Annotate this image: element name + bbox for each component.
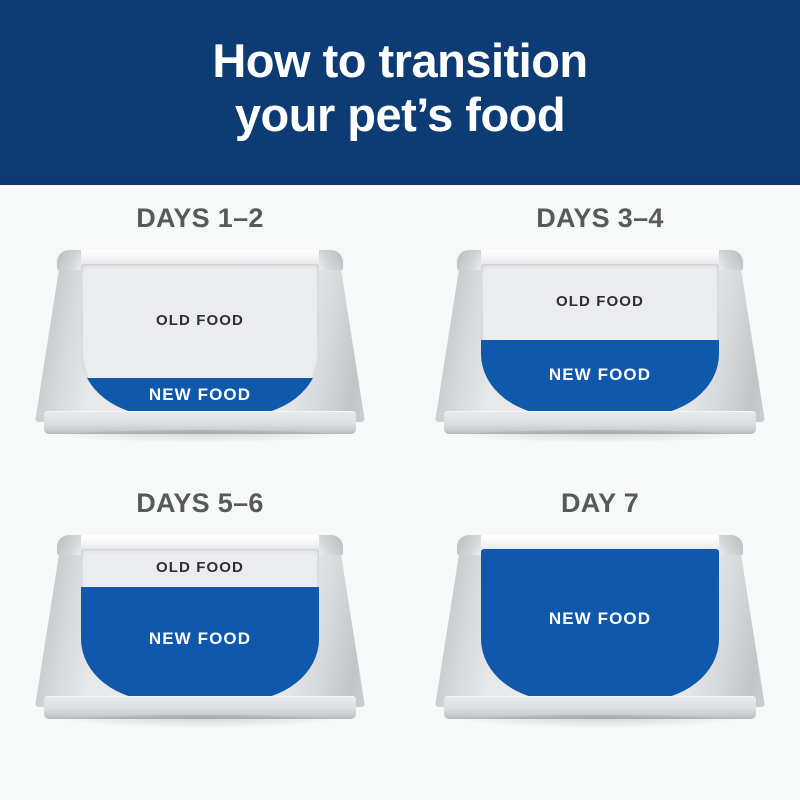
old-food-label-1: OLD FOOD xyxy=(81,312,319,329)
bowl-drop-shadow xyxy=(59,430,341,442)
old-food-label-3: OLD FOOD xyxy=(81,559,319,576)
day-label-2: DAYS 3–4 xyxy=(536,203,664,234)
food-well-4: NEW FOOD xyxy=(481,549,719,701)
pet-food-bowl-3: OLD FOOD NEW FOOD xyxy=(35,531,365,731)
page-title-line-1: How to transition xyxy=(212,34,587,88)
transition-step-2: DAYS 3–4 OLD FOOD NEW FOOD xyxy=(400,203,800,488)
old-food-label-2: OLD FOOD xyxy=(481,293,719,310)
bowl-drop-shadow xyxy=(59,715,341,727)
day-label-3: DAYS 5–6 xyxy=(136,488,264,519)
bowl-drop-shadow xyxy=(459,430,741,442)
food-well-2: OLD FOOD NEW FOOD xyxy=(481,264,719,416)
page-title: How to transition your pet’s food xyxy=(212,34,587,148)
day-label-4: DAY 7 xyxy=(561,488,639,519)
transition-step-1: DAYS 1–2 OLD FOOD NEW FOOD xyxy=(0,203,400,488)
new-food-label-3: NEW FOOD xyxy=(81,629,319,649)
food-well-1: OLD FOOD NEW FOOD xyxy=(81,264,319,416)
pet-food-bowl-1: OLD FOOD NEW FOOD xyxy=(35,246,365,446)
pet-food-bowl-2: OLD FOOD NEW FOOD xyxy=(435,246,765,446)
food-well-3: OLD FOOD NEW FOOD xyxy=(81,549,319,701)
transition-step-4: DAY 7 NEW FOOD xyxy=(400,488,800,773)
transition-step-3: DAYS 5–6 OLD FOOD NEW FOOD xyxy=(0,488,400,773)
header-banner: How to transition your pet’s food xyxy=(0,0,800,185)
new-food-label-1: NEW FOOD xyxy=(81,385,319,405)
pet-food-bowl-4: NEW FOOD xyxy=(435,531,765,731)
new-food-label-2: NEW FOOD xyxy=(481,365,719,385)
page-title-line-2: your pet’s food xyxy=(212,88,587,142)
bowl-drop-shadow xyxy=(459,715,741,727)
new-food-label-4: NEW FOOD xyxy=(481,609,719,629)
day-label-1: DAYS 1–2 xyxy=(136,203,264,234)
transition-steps-grid: DAYS 1–2 OLD FOOD NEW FOOD DAYS 3–4 OLD … xyxy=(0,185,800,800)
